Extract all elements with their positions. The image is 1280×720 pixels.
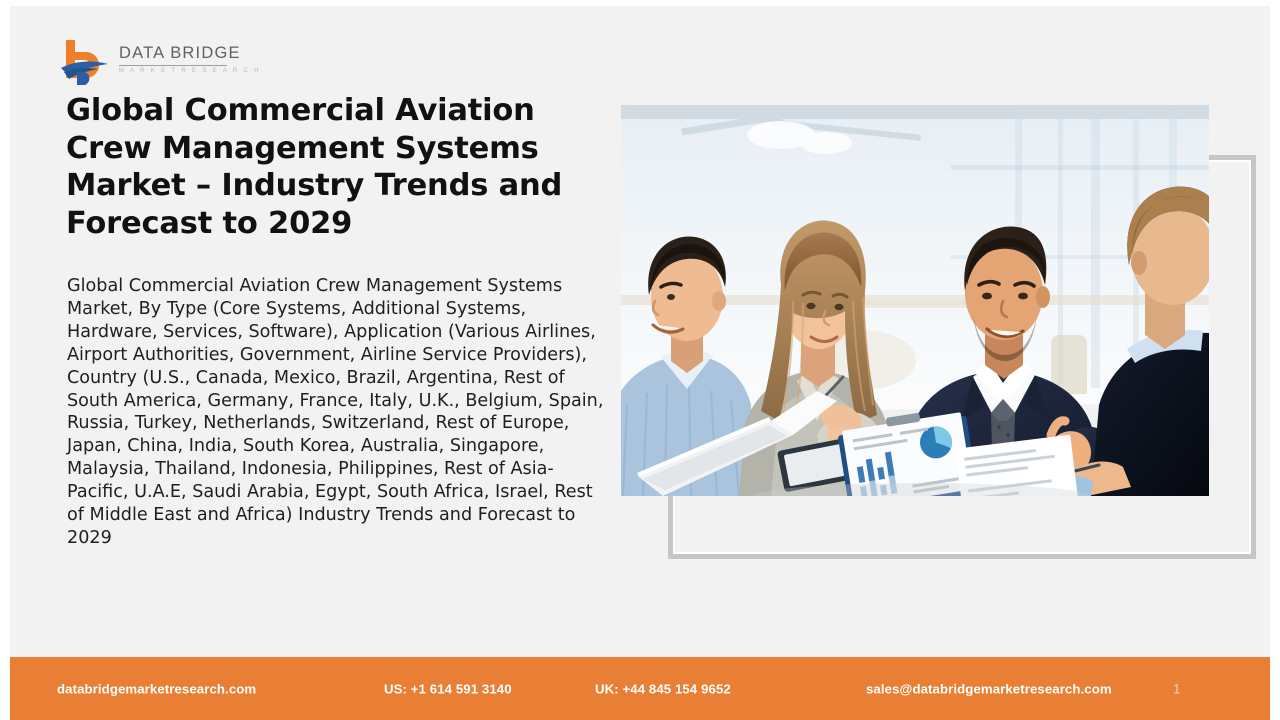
brand-name: DATA BRIDGE (119, 45, 261, 62)
footer-page-number: 1 (1173, 681, 1181, 696)
page-title: Global Commercial Aviation Crew Manageme… (66, 92, 606, 242)
brand-wordmark: DATA BRIDGE M A R K E T R E S E A R C H (119, 38, 261, 74)
footer-phone-uk[interactable]: UK: +44 845 154 9652 (595, 681, 731, 696)
page-margin-right (1270, 0, 1280, 720)
page-margin-left (0, 0, 10, 720)
footer-phone-us[interactable]: US: +1 614 591 3140 (384, 681, 512, 696)
footer-email[interactable]: sales@databridgemarketresearch.com (866, 681, 1112, 696)
business-meeting-photo (621, 105, 1209, 496)
slide-footer: databridgemarketresearch.com US: +1 614 … (0, 657, 1280, 720)
presentation-slide: DATA BRIDGE M A R K E T R E S E A R C H … (0, 0, 1280, 720)
brand-tagline: M A R K E T R E S E A R C H (119, 68, 261, 74)
databridge-b-logo-icon (60, 38, 112, 86)
page-margin-top (0, 0, 1280, 6)
brand-divider (119, 65, 227, 66)
footer-website[interactable]: databridgemarketresearch.com (57, 681, 256, 696)
slide-description: Global Commercial Aviation Crew Manageme… (67, 275, 607, 550)
brand-logo[interactable]: DATA BRIDGE M A R K E T R E S E A R C H (60, 38, 261, 86)
